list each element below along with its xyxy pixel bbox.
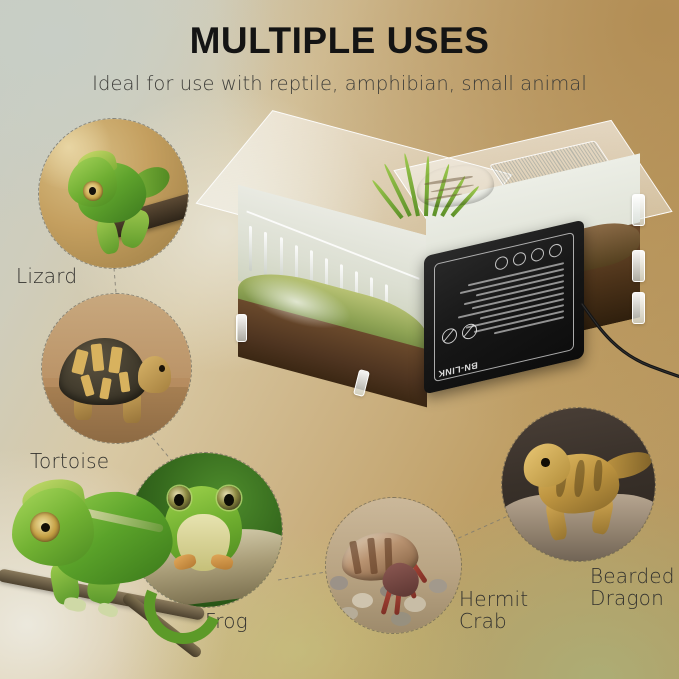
caption-bearded-dragon: Bearded Dragon [590,565,675,610]
lizard-photo [38,118,189,269]
foreground-chameleon [0,470,209,679]
tortoise-photo [41,293,192,444]
power-cable [580,300,679,396]
lid-clip-4 [236,314,247,342]
page-title: MULTIPLE USES [0,22,679,61]
lid-clip-2 [632,250,645,282]
animal-thumb-hermit-crab[interactable] [325,497,462,634]
animal-thumb-tortoise[interactable] [41,293,192,444]
page-subtitle: Ideal for use with reptile, amphibian, s… [0,72,679,95]
caption-hermit-crab: Hermit Crab [459,588,528,633]
bearded-dragon-photo [501,407,656,562]
chameleon-pupil [41,523,50,532]
hermit-crab-photo [325,497,462,634]
lid-clip-1 [632,194,645,226]
animal-thumb-bearded-dragon[interactable] [501,407,656,562]
product-terrarium: BN-LINK [228,142,679,417]
animal-thumb-lizard[interactable] [38,118,189,269]
heading-block: MULTIPLE USES Ideal for use with reptile… [0,22,679,95]
caption-lizard: Lizard [16,265,77,287]
infographic-canvas: MULTIPLE USES Ideal for use with reptile… [0,0,679,679]
